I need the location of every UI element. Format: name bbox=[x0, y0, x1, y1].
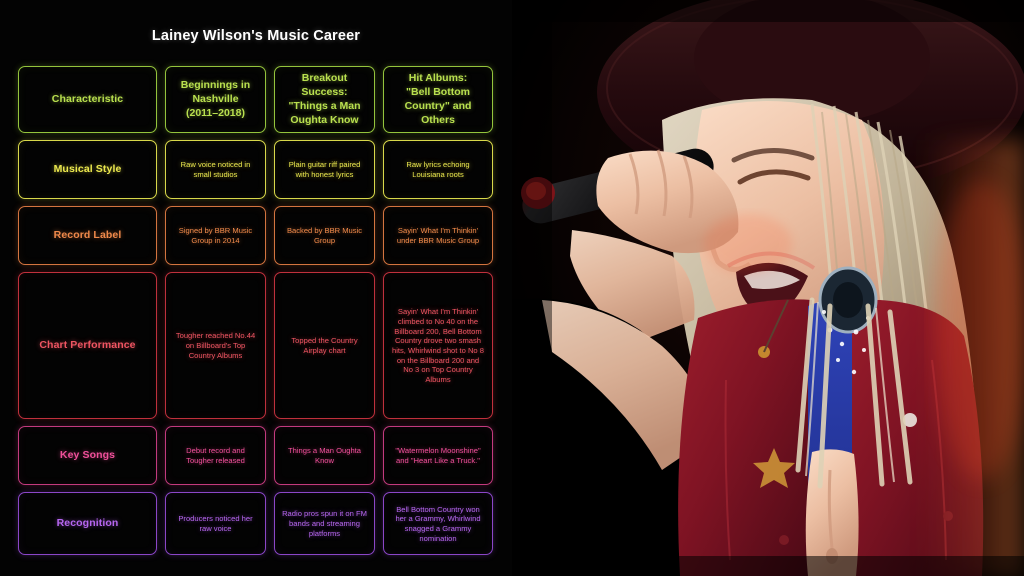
cell-text: Tougher reached No.44 on Billboard's Top… bbox=[173, 331, 258, 360]
table-row: Record Label Signed by BBR Music Group i… bbox=[18, 206, 494, 265]
performance-photo-illustration bbox=[512, 0, 1024, 576]
row-label-recognition: Recognition bbox=[18, 492, 157, 555]
cell-record-label-hit-albums: Sayin' What I'm Thinkin' under BBR Music… bbox=[383, 206, 493, 265]
cell-chart-performance-hit-albums: Sayin' What I'm Thinkin' climbed to No 4… bbox=[383, 272, 493, 419]
cell-recognition-breakout: Radio pros spun it on FM bands and strea… bbox=[274, 492, 375, 555]
row-label-chart-performance: Chart Performance bbox=[18, 272, 157, 419]
row-label-text: Key Songs bbox=[60, 449, 115, 462]
row-label-text: Chart Performance bbox=[39, 339, 135, 352]
cell-recognition-hit-albums: Bell Bottom Country won her a Grammy, Wh… bbox=[383, 492, 493, 555]
cell-key-songs-breakout: Things a Man Oughta Know bbox=[274, 426, 375, 485]
row-label-musical-style: Musical Style bbox=[18, 140, 157, 199]
row-label-text: Musical Style bbox=[54, 163, 122, 176]
cell-chart-performance-beginnings: Tougher reached No.44 on Billboard's Top… bbox=[165, 272, 266, 419]
cell-text: Backed by BBR Music Group bbox=[282, 226, 367, 245]
cell-text: Topped the Country Airplay chart bbox=[282, 336, 367, 355]
cell-key-songs-hit-albums: "Watermelon Moonshine" and "Heart Like a… bbox=[383, 426, 493, 485]
performance-photo bbox=[512, 0, 1024, 576]
header-cell-beginnings: Beginnings in Nashville (2011–2018) bbox=[165, 66, 266, 133]
header-cell-hit-albums: Hit Albums: "Bell Bottom Country" and Ot… bbox=[383, 66, 493, 133]
table-row: Key Songs Debut record and Tougher relea… bbox=[18, 426, 494, 485]
table-row: Recognition Producers noticed her raw vo… bbox=[18, 492, 494, 555]
cell-musical-style-breakout: Plain guitar riff paired with honest lyr… bbox=[274, 140, 375, 199]
cell-text: Sayin' What I'm Thinkin' under BBR Music… bbox=[391, 226, 485, 245]
header-cell-text: Characteristic bbox=[52, 93, 123, 106]
table-row: Musical Style Raw voice noticed in small… bbox=[18, 140, 494, 199]
career-table: Characteristic Beginnings in Nashville (… bbox=[18, 66, 494, 555]
cell-text: Plain guitar riff paired with honest lyr… bbox=[282, 160, 367, 179]
cell-key-songs-beginnings: Debut record and Tougher released bbox=[165, 426, 266, 485]
header-cell-text: Breakout Success: "Things a Man Oughta K… bbox=[288, 72, 360, 127]
cell-text: Things a Man Oughta Know bbox=[282, 446, 367, 465]
table-header-row: Characteristic Beginnings in Nashville (… bbox=[18, 66, 494, 133]
cell-record-label-breakout: Backed by BBR Music Group bbox=[274, 206, 375, 265]
cell-recognition-beginnings: Producers noticed her raw voice bbox=[165, 492, 266, 555]
infographic-panel: Lainey Wilson's Music Career Characteris… bbox=[0, 0, 512, 576]
header-cell-text: Hit Albums: "Bell Bottom Country" and Ot… bbox=[405, 72, 472, 127]
header-cell-breakout: Breakout Success: "Things a Man Oughta K… bbox=[274, 66, 375, 133]
header-cell-characteristic: Characteristic bbox=[18, 66, 157, 133]
cell-text: Raw lyrics echoing Louisiana roots bbox=[391, 160, 485, 179]
row-label-text: Recognition bbox=[57, 517, 119, 530]
header-cell-text: Beginnings in Nashville (2011–2018) bbox=[181, 79, 250, 121]
cell-record-label-beginnings: Signed by BBR Music Group in 2014 bbox=[165, 206, 266, 265]
cell-text: Radio pros spun it on FM bands and strea… bbox=[282, 509, 367, 538]
cell-text: "Watermelon Moonshine" and "Heart Like a… bbox=[391, 446, 485, 465]
row-label-record-label: Record Label bbox=[18, 206, 157, 265]
cell-chart-performance-breakout: Topped the Country Airplay chart bbox=[274, 272, 375, 419]
cell-text: Producers noticed her raw voice bbox=[173, 514, 258, 533]
cell-text: Bell Bottom Country won her a Grammy, Wh… bbox=[391, 505, 485, 544]
cell-text: Raw voice noticed in small studios bbox=[173, 160, 258, 179]
cell-text: Sayin' What I'm Thinkin' climbed to No 4… bbox=[391, 307, 485, 385]
row-label-key-songs: Key Songs bbox=[18, 426, 157, 485]
infographic-stage: Lainey Wilson's Music Career Characteris… bbox=[0, 0, 1024, 576]
cell-musical-style-hit-albums: Raw lyrics echoing Louisiana roots bbox=[383, 140, 493, 199]
table-row: Chart Performance Tougher reached No.44 … bbox=[18, 272, 494, 419]
row-label-text: Record Label bbox=[54, 229, 122, 242]
cell-musical-style-beginnings: Raw voice noticed in small studios bbox=[165, 140, 266, 199]
cell-text: Signed by BBR Music Group in 2014 bbox=[173, 226, 258, 245]
page-title: Lainey Wilson's Music Career bbox=[0, 28, 512, 44]
cell-text: Debut record and Tougher released bbox=[173, 446, 258, 465]
